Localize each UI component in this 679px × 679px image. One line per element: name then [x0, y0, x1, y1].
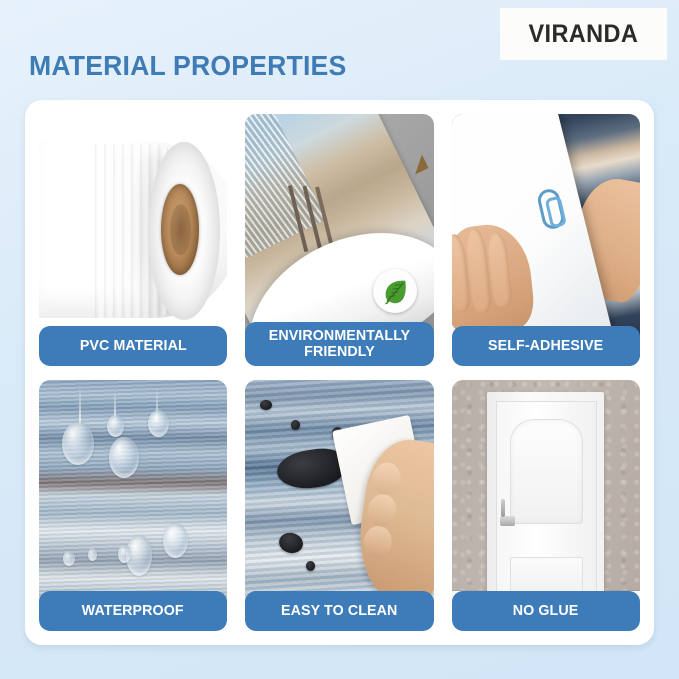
feature-card-waterproof[interactable]: WATERPROOF [39, 380, 227, 632]
feature-grid: PVC MATERIAL [39, 114, 640, 631]
feature-label-waterproof: WATERPROOF [39, 591, 227, 631]
feature-label-text: ENVIRONMENTALLYFRIENDLY [269, 328, 411, 359]
feature-label-self-adhesive: SELF-ADHESIVE [452, 326, 640, 366]
feature-card-self-adhesive[interactable]: SELF-ADHESIVE [452, 114, 640, 366]
feature-label-text: EASY TO CLEAN [281, 603, 397, 619]
feature-label-text: PVC MATERIAL [80, 338, 187, 354]
page-title: MATERIAL PROPERTIES [29, 50, 346, 82]
feature-card-environmentally-friendly[interactable]: ENVIRONMENTALLYFRIENDLY [245, 114, 433, 366]
feature-label-environmentally-friendly: ENVIRONMENTALLYFRIENDLY [245, 322, 433, 366]
leaf-icon [373, 269, 417, 313]
feature-label-text: WATERPROOF [82, 603, 184, 619]
feature-label-pvc-material: PVC MATERIAL [39, 326, 227, 366]
feature-label-text: NO GLUE [513, 603, 579, 619]
feature-card-easy-to-clean[interactable]: EASY TO CLEAN [245, 380, 433, 632]
feature-card-no-glue[interactable]: NO GLUE [452, 380, 640, 632]
brand-name: VIRANDA [529, 20, 639, 49]
brand-logo: VIRANDA [500, 8, 667, 60]
feature-card-pvc-material[interactable]: PVC MATERIAL [39, 114, 227, 366]
door-handle-icon [500, 516, 515, 526]
feature-label-easy-to-clean: EASY TO CLEAN [245, 591, 433, 631]
feature-panel: PVC MATERIAL [25, 100, 654, 645]
feature-label-text: SELF-ADHESIVE [488, 338, 603, 354]
feature-label-no-glue: NO GLUE [452, 591, 640, 631]
